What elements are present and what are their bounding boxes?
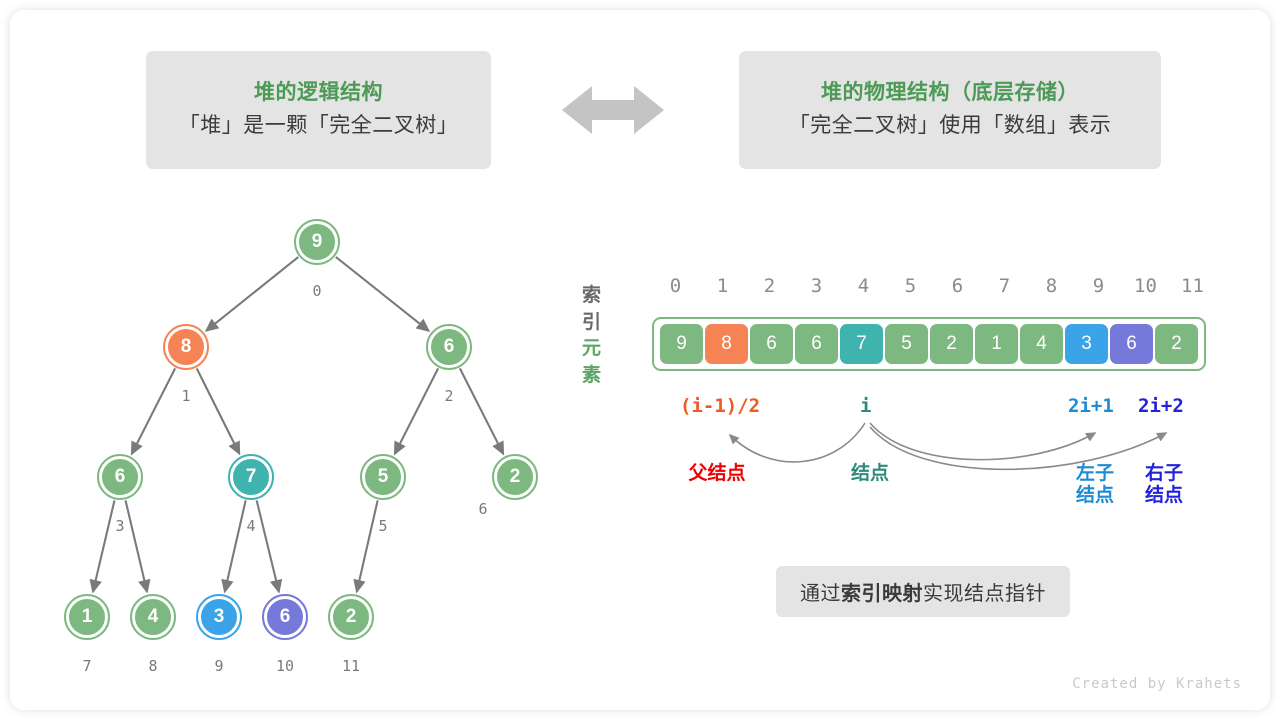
array-element-cell: 7	[840, 324, 883, 364]
tree-node-index-label: 0	[297, 282, 337, 300]
right-child-label: 右子 结点	[1136, 463, 1192, 507]
physical-structure-banner: 堆的物理结构（底层存储） 「完全二叉树」使用「数组」表示	[739, 51, 1161, 169]
right-child-label-line1: 右子	[1145, 463, 1183, 484]
array-element-cell: 6	[795, 324, 838, 364]
double-arrow-icon	[562, 82, 664, 138]
array-element-cell: 8	[705, 324, 748, 364]
array-element-cell: 3	[1065, 324, 1108, 364]
left-child-label: 左子 结点	[1067, 463, 1123, 507]
array-index-cell: 1	[699, 275, 746, 297]
array-element-cell: 6	[750, 324, 793, 364]
tree-node: 7	[231, 457, 271, 497]
tree-node-index-label: 3	[100, 517, 140, 535]
tree-node-index-label: 4	[231, 517, 271, 535]
tree-node: 4	[133, 597, 173, 637]
tree-node-index-label: 7	[67, 657, 107, 675]
logical-structure-subtitle: 「堆」是一颗「完全二叉树」	[179, 111, 459, 141]
tree-node: 1	[67, 597, 107, 637]
physical-structure-subtitle: 「完全二叉树」使用「数组」表示	[789, 111, 1112, 141]
array-index-cell: 4	[840, 275, 887, 297]
binary-tree-diagram: 90816263745526174839610211	[10, 190, 590, 690]
tree-node-index-label: 11	[331, 657, 371, 675]
tree-node: 6	[265, 597, 305, 637]
array-element-cell: 6	[1110, 324, 1153, 364]
array-index-cell: 0	[652, 275, 699, 297]
self-formula: i	[860, 395, 871, 417]
caption-suffix: 实现结点指针	[923, 583, 1046, 605]
tree-node: 5	[363, 457, 403, 497]
tree-node: 8	[166, 327, 206, 367]
tree-node-index-label: 10	[265, 657, 305, 675]
tree-node: 6	[100, 457, 140, 497]
diagram-card: 堆的逻辑结构 「堆」是一颗「完全二叉树」 堆的物理结构（底层存储） 「完全二叉树…	[10, 10, 1270, 710]
tree-node-index-label: 8	[133, 657, 173, 675]
array-index-cell: 10	[1122, 275, 1169, 297]
array-element-cell: 5	[885, 324, 928, 364]
array-index-cell: 7	[981, 275, 1028, 297]
index-row-label: 索引	[582, 280, 602, 334]
tree-node-index-label: 5	[363, 517, 403, 535]
parent-node-label: 父结点	[662, 463, 772, 485]
tree-node-index-label: 1	[166, 387, 206, 405]
tree-node-index-label: 9	[199, 657, 239, 675]
array-index-cell: 3	[793, 275, 840, 297]
tree-node: 3	[199, 597, 239, 637]
array-element-cell: 2	[1155, 324, 1198, 364]
tree-node: 6	[429, 327, 469, 367]
array-element-cell: 1	[975, 324, 1018, 364]
array-index-cell: 9	[1075, 275, 1122, 297]
parent-formula: (i-1)/2	[680, 395, 760, 417]
array-element-cell: 9	[660, 324, 703, 364]
array-cells-container: 986675214362	[652, 317, 1206, 371]
index-row: 01234567891011	[652, 275, 1216, 297]
tree-node: 9	[297, 222, 337, 262]
array-element-cell: 4	[1020, 324, 1063, 364]
logical-structure-banner: 堆的逻辑结构 「堆」是一颗「完全二叉树」	[146, 51, 491, 169]
left-child-label-line1: 左子	[1076, 463, 1114, 484]
array-index-cell: 5	[887, 275, 934, 297]
caption-bold: 索引映射	[841, 583, 923, 605]
watermark: Created by Krahets	[1072, 676, 1242, 692]
logical-structure-title: 堆的逻辑结构	[254, 79, 383, 107]
right-child-label-line2: 结点	[1145, 485, 1183, 506]
tree-node: 2	[331, 597, 371, 637]
tree-node: 2	[495, 457, 535, 497]
physical-structure-title: 堆的物理结构（底层存储）	[821, 79, 1079, 107]
array-index-cell: 6	[934, 275, 981, 297]
array-index-cell: 11	[1169, 275, 1216, 297]
array-index-cell: 8	[1028, 275, 1075, 297]
element-row-label: 元素	[582, 333, 602, 387]
left-child-formula: 2i+1	[1068, 395, 1114, 417]
caption-prefix: 通过	[800, 583, 841, 605]
tree-node-index-label: 2	[429, 387, 469, 405]
left-child-label-line2: 结点	[1076, 485, 1114, 506]
self-node-label: 结点	[835, 463, 905, 485]
right-child-formula: 2i+2	[1138, 395, 1184, 417]
array-element-cell: 2	[930, 324, 973, 364]
tree-node-index-label: 6	[463, 500, 503, 518]
diagram-page: 堆的逻辑结构 「堆」是一颗「完全二叉树」 堆的物理结构（底层存储） 「完全二叉树…	[0, 0, 1280, 720]
array-index-cell: 2	[746, 275, 793, 297]
index-mapping-caption: 通过索引映射实现结点指针	[776, 566, 1070, 617]
